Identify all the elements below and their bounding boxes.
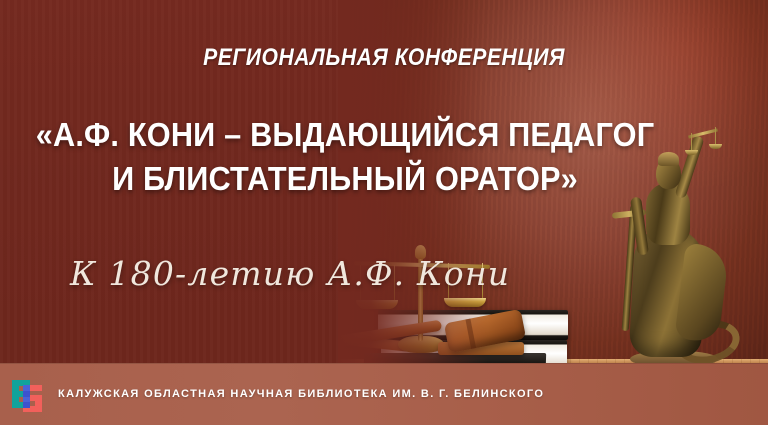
conference-poster: РЕГИОНАЛЬНАЯ КОНФЕРЕНЦИЯ «А.Ф. КОНИ – ВЫ…	[0, 0, 768, 425]
title-line-2: И БЛИСТАТЕЛЬНЫЙ ОРАТОР»	[24, 157, 666, 201]
statue-mini-scales-beam	[688, 128, 718, 138]
logo-overlap-low	[23, 402, 30, 408]
kaluga-library-logo-icon	[10, 377, 44, 411]
subtitle-text: К 180-летию А.Ф. Кони	[70, 254, 510, 293]
logo-red-right	[35, 395, 42, 412]
statue-mini-string-left	[691, 133, 692, 151]
statue-mini-string-right	[715, 127, 716, 145]
organization-name: КАЛУЖСКАЯ ОБЛАСТНАЯ НАУЧНАЯ БИБЛИОТЕКА И…	[58, 388, 544, 400]
logo-overlap-mid	[23, 391, 30, 397]
footer-bar: КАЛУЖСКАЯ ОБЛАСТНАЯ НАУЧНАЯ БИБЛИОТЕКА И…	[0, 363, 768, 425]
title-line-1: «А.Ф. КОНИ – ВЫДАЮЩИЙСЯ ПЕДАГОГ	[24, 113, 666, 157]
statue-mini-pan-right	[709, 144, 722, 149]
page-title: «А.Ф. КОНИ – ВЫДАЮЩИЙСЯ ПЕДАГОГ И БЛИСТА…	[24, 113, 666, 201]
kicker-text: РЕГИОНАЛЬНАЯ КОНФЕРЕНЦИЯ	[46, 44, 722, 72]
